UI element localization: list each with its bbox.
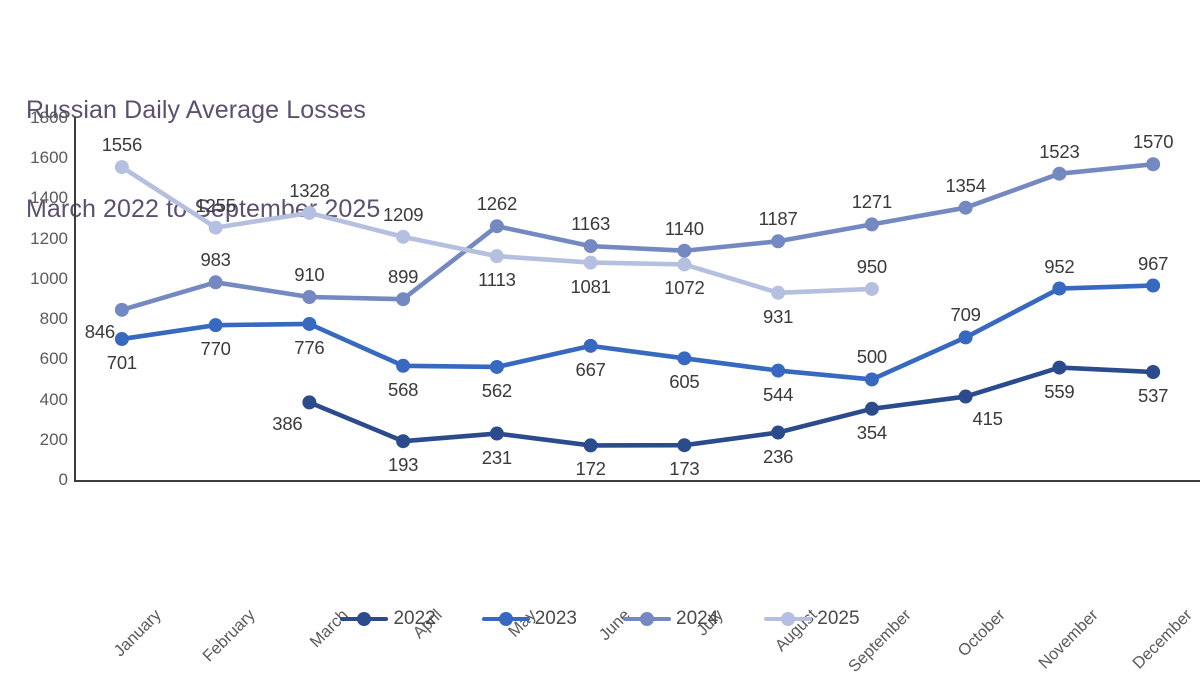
y-axis-tick-label: 400: [10, 390, 68, 410]
series-line-2024: [122, 164, 1153, 310]
data-label: 415: [972, 408, 1002, 430]
data-label: 544: [763, 384, 793, 406]
data-label: 709: [950, 304, 980, 326]
legend-label: 2023: [535, 608, 577, 630]
data-label: 562: [482, 380, 512, 402]
data-point-marker: [1146, 365, 1160, 379]
data-point-marker: [115, 160, 129, 174]
data-point-marker: [677, 351, 691, 365]
data-point-marker: [771, 364, 785, 378]
data-label: 1523: [1039, 141, 1079, 163]
data-point-marker: [677, 438, 691, 452]
legend-item-2024[interactable]: 2024: [623, 608, 718, 630]
data-label: 568: [388, 379, 418, 401]
legend-label: 2024: [676, 608, 718, 630]
data-point-marker: [865, 217, 879, 231]
data-point-marker: [302, 206, 316, 220]
data-label: 1262: [477, 193, 517, 215]
data-point-marker: [490, 219, 504, 233]
data-point-marker: [490, 427, 504, 441]
data-label: 386: [272, 413, 302, 435]
data-point-marker: [302, 395, 316, 409]
data-point-marker: [1052, 167, 1066, 181]
data-label: 1255: [195, 195, 235, 217]
y-axis-tick-label: 0: [10, 470, 68, 490]
data-point-marker: [209, 318, 223, 332]
y-axis-tick-label: 1200: [10, 229, 68, 249]
y-axis-tick-label: 1800: [10, 108, 68, 128]
data-label: 770: [200, 338, 230, 360]
data-label: 846: [85, 321, 115, 343]
data-point-marker: [302, 317, 316, 331]
y-axis-tick-label: 1000: [10, 269, 68, 289]
data-label: 1271: [852, 191, 892, 213]
data-point-marker: [396, 292, 410, 306]
data-point-marker: [1146, 279, 1160, 293]
data-label: 1187: [759, 208, 798, 230]
data-point-marker: [1052, 361, 1066, 375]
legend-item-2022[interactable]: 2022: [340, 608, 435, 630]
data-point-marker: [584, 256, 598, 270]
data-label: 1328: [289, 180, 329, 202]
data-label: 667: [575, 359, 605, 381]
legend-swatch-icon: [623, 611, 671, 627]
legend-label: 2022: [393, 608, 435, 630]
legend-swatch-icon: [482, 611, 530, 627]
data-label: 1556: [102, 134, 142, 156]
data-point-marker: [771, 286, 785, 300]
legend-item-2023[interactable]: 2023: [482, 608, 577, 630]
data-point-marker: [677, 244, 691, 258]
data-point-marker: [490, 249, 504, 263]
data-label: 1113: [478, 269, 516, 291]
data-label: 354: [857, 422, 887, 444]
data-label: 236: [763, 446, 793, 468]
legend-label: 2025: [817, 608, 859, 630]
data-label: 701: [107, 352, 137, 374]
data-point-marker: [584, 239, 598, 253]
data-label: 952: [1044, 256, 1074, 278]
data-label: 910: [294, 264, 324, 286]
data-point-marker: [490, 360, 504, 374]
data-point-marker: [771, 426, 785, 440]
data-label: 193: [388, 454, 418, 476]
data-label: 950: [857, 256, 887, 278]
y-axis-tick-label: 600: [10, 349, 68, 369]
legend-swatch-icon: [340, 611, 388, 627]
plot-area: 180016001400120010008006004002000 Januar…: [75, 118, 1200, 480]
y-axis-tick-label: 1600: [10, 148, 68, 168]
y-axis-tick-label: 200: [10, 430, 68, 450]
data-label: 1072: [664, 277, 704, 299]
data-point-marker: [302, 290, 316, 304]
data-point-marker: [584, 438, 598, 452]
data-label: 1570: [1133, 131, 1173, 153]
data-label: 1209: [383, 204, 423, 226]
data-label: 983: [200, 249, 230, 271]
series-line-2022: [309, 368, 1153, 446]
data-point-marker: [771, 234, 785, 248]
data-point-marker: [396, 359, 410, 373]
data-label: 559: [1044, 381, 1074, 403]
data-point-marker: [396, 230, 410, 244]
data-point-marker: [396, 434, 410, 448]
data-label: 605: [669, 371, 699, 393]
data-label: 776: [294, 337, 324, 359]
data-label: 1163: [571, 213, 610, 235]
data-point-marker: [959, 330, 973, 344]
data-point-marker: [584, 339, 598, 353]
series-line-2023: [122, 286, 1153, 380]
data-label: 537: [1138, 385, 1168, 407]
data-label: 231: [482, 447, 512, 469]
legend-swatch-icon: [764, 611, 812, 627]
data-label: 931: [763, 306, 793, 328]
data-label: 500: [857, 346, 887, 368]
series-lines: [75, 118, 1200, 480]
data-point-marker: [959, 201, 973, 215]
data-point-marker: [115, 303, 129, 317]
data-point-marker: [865, 372, 879, 386]
data-point-marker: [677, 257, 691, 271]
data-label: 1354: [945, 175, 985, 197]
data-label: 173: [669, 458, 699, 480]
data-label: 967: [1138, 253, 1168, 275]
chart-container: Russian Daily Average Losses March 2022 …: [0, 0, 1200, 650]
y-axis-tick-label: 800: [10, 309, 68, 329]
data-point-marker: [865, 282, 879, 296]
legend-item-2025[interactable]: 2025: [764, 608, 859, 630]
data-point-marker: [959, 390, 973, 404]
data-point-marker: [1146, 157, 1160, 171]
y-axis-tick-label: 1400: [10, 188, 68, 208]
data-point-marker: [1052, 282, 1066, 296]
chart-legend: 2022202320242025: [0, 608, 1200, 630]
data-point-marker: [865, 402, 879, 416]
data-label: 899: [388, 266, 418, 288]
data-point-marker: [209, 221, 223, 235]
data-label: 172: [575, 458, 605, 480]
data-label: 1081: [570, 276, 610, 298]
data-point-marker: [115, 332, 129, 346]
data-label: 1140: [665, 218, 704, 240]
x-axis-line: [74, 480, 1200, 482]
data-point-marker: [209, 275, 223, 289]
